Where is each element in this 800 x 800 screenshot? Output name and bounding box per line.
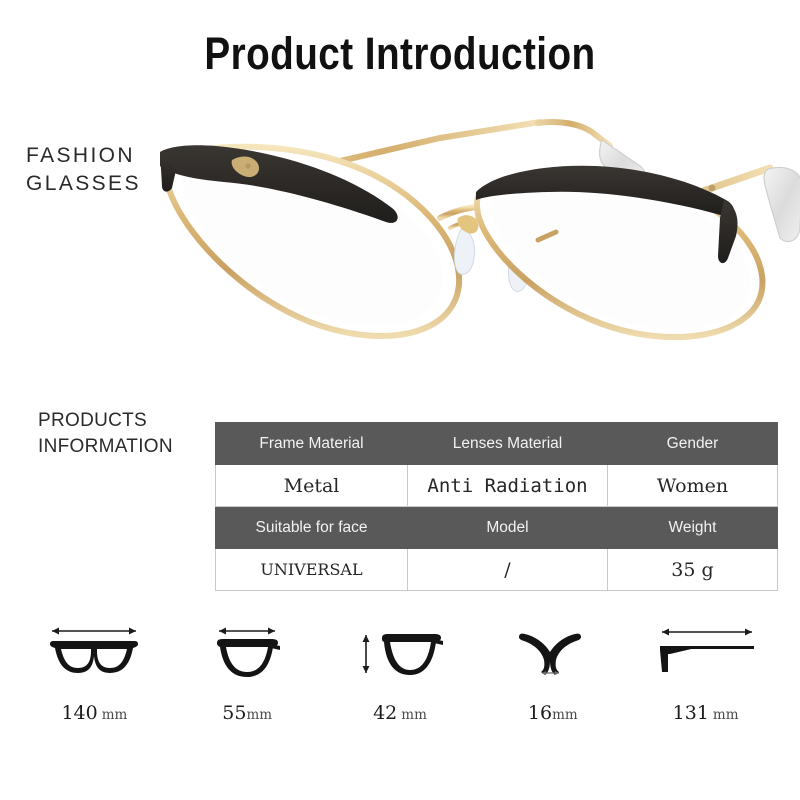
table-value-gender: Women (608, 465, 778, 507)
measurement-item: 55mm (171, 620, 324, 724)
table-value-frame-material: Metal (216, 465, 408, 507)
measurement-value: 55 (222, 702, 246, 724)
table-value-weight: 35 g (608, 549, 778, 591)
measurement-unit: mm (246, 707, 272, 723)
measurements-section: 140mm 55mm (0, 620, 800, 750)
products-information-section: PRODUCTS INFORMATION Frame Material Lens… (0, 400, 800, 605)
table-value-lenses-material: Anti Radiation (408, 465, 608, 507)
measurement-unit: mm (552, 707, 578, 723)
measurement-label: 140mm (61, 702, 127, 724)
measurement-label: 131mm (673, 702, 739, 724)
table-value-suitable-for-face: UNIVERSAL (216, 549, 408, 591)
hero-label: FASHION GLASSES (26, 142, 141, 198)
bridge-width-icon (493, 620, 613, 686)
measurement-item: 42mm (324, 620, 477, 724)
products-information-label: PRODUCTS INFORMATION (38, 408, 173, 459)
table-header-cell: Model (408, 507, 608, 549)
table-header-cell: Frame Material (216, 423, 408, 465)
measurement-item: 140mm (18, 620, 171, 724)
table-row: Metal Anti Radiation Women (216, 465, 778, 507)
table-row: Suitable for face Model Weight (216, 507, 778, 549)
table-header-cell: Suitable for face (216, 507, 408, 549)
measurement-unit: mm (102, 707, 128, 723)
measurement-item: 16mm (476, 620, 629, 724)
page-title: Product Introduction (56, 28, 744, 80)
table-value-model: / (408, 549, 608, 591)
measurement-value: 42 (373, 702, 397, 724)
measurement-value: 140 (61, 702, 97, 724)
table-row: Frame Material Lenses Material Gender (216, 423, 778, 465)
measurement-item: 131mm (629, 620, 782, 724)
product-photo (140, 100, 800, 375)
measurement-label: 55mm (222, 702, 272, 724)
measurement-unit: mm (401, 707, 427, 723)
glasses-full-width-icon (34, 620, 154, 686)
specification-table: Frame Material Lenses Material Gender Me… (215, 422, 778, 591)
lens-height-icon (340, 620, 460, 686)
measurement-unit: mm (713, 707, 739, 723)
table-header-cell: Lenses Material (408, 423, 608, 465)
measurement-label: 16mm (528, 702, 578, 724)
measurement-label: 42mm (373, 702, 427, 724)
table-header-cell: Weight (608, 507, 778, 549)
measurement-value: 16 (528, 702, 552, 724)
hero-section: FASHION GLASSES (0, 100, 800, 385)
temple-length-icon (646, 620, 766, 686)
lens-width-icon (187, 620, 307, 686)
measurement-value: 131 (673, 702, 709, 724)
table-row: UNIVERSAL / 35 g (216, 549, 778, 591)
table-header-cell: Gender (608, 423, 778, 465)
